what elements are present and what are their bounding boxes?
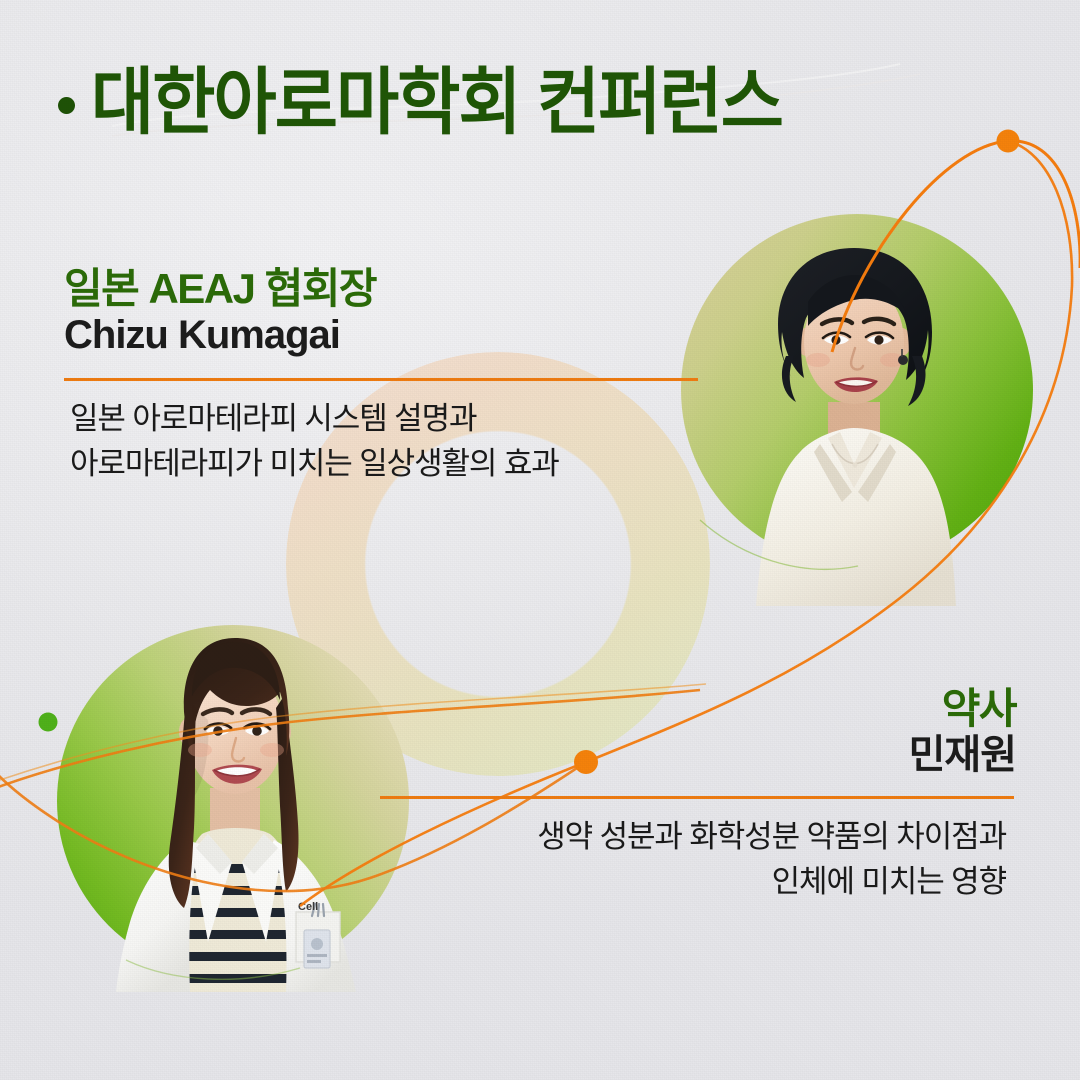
poster-canvas: Cell <box>0 0 1080 1080</box>
speaker-2-description-line-1: 생약 성분과 화학성분 약품의 차이점과 <box>380 815 1006 860</box>
speaker-2-description-line-2: 인체에 미치는 영향 <box>380 860 1006 905</box>
poster-title: 대한아로마학회 컨퍼런스 <box>58 66 826 139</box>
speaker-1-name: Chizu Kumagai <box>64 313 704 358</box>
bullet-dot-icon <box>58 97 75 114</box>
speaker-block-1: 일본 AEAJ 협회장 Chizu Kumagai 일본 아로마테라피 시스템 … <box>64 266 704 487</box>
speaker-1-role: 일본 AEAJ 협회장 <box>64 266 704 311</box>
speaker-1-description: 일본 아로마테라피 시스템 설명과 아로마테라피가 미치는 일상생활의 효과 <box>64 397 704 487</box>
speaker-1-divider <box>64 378 698 381</box>
speaker-2-name: 민재원 <box>380 733 1016 778</box>
speaker-2-role: 약사 <box>380 686 1016 731</box>
speaker-1-description-line-1: 일본 아로마테라피 시스템 설명과 <box>70 397 704 442</box>
title-text: 대한아로마학회 컨퍼런스 <box>91 66 782 139</box>
speaker-1-photo <box>700 206 1030 606</box>
speaker-1-description-line-2: 아로마테라피가 미치는 일상생활의 효과 <box>70 442 704 487</box>
speaker-2-divider <box>380 796 1014 799</box>
speaker-2-description: 생약 성분과 화학성분 약품의 차이점과 인체에 미치는 영향 <box>380 815 1016 905</box>
speaker-2-photo: Cell <box>60 612 410 992</box>
speaker-block-2: 약사 민재원 생약 성분과 화학성분 약품의 차이점과 인체에 미치는 영향 <box>380 686 1016 905</box>
svg-text:Cell: Cell <box>298 901 318 913</box>
